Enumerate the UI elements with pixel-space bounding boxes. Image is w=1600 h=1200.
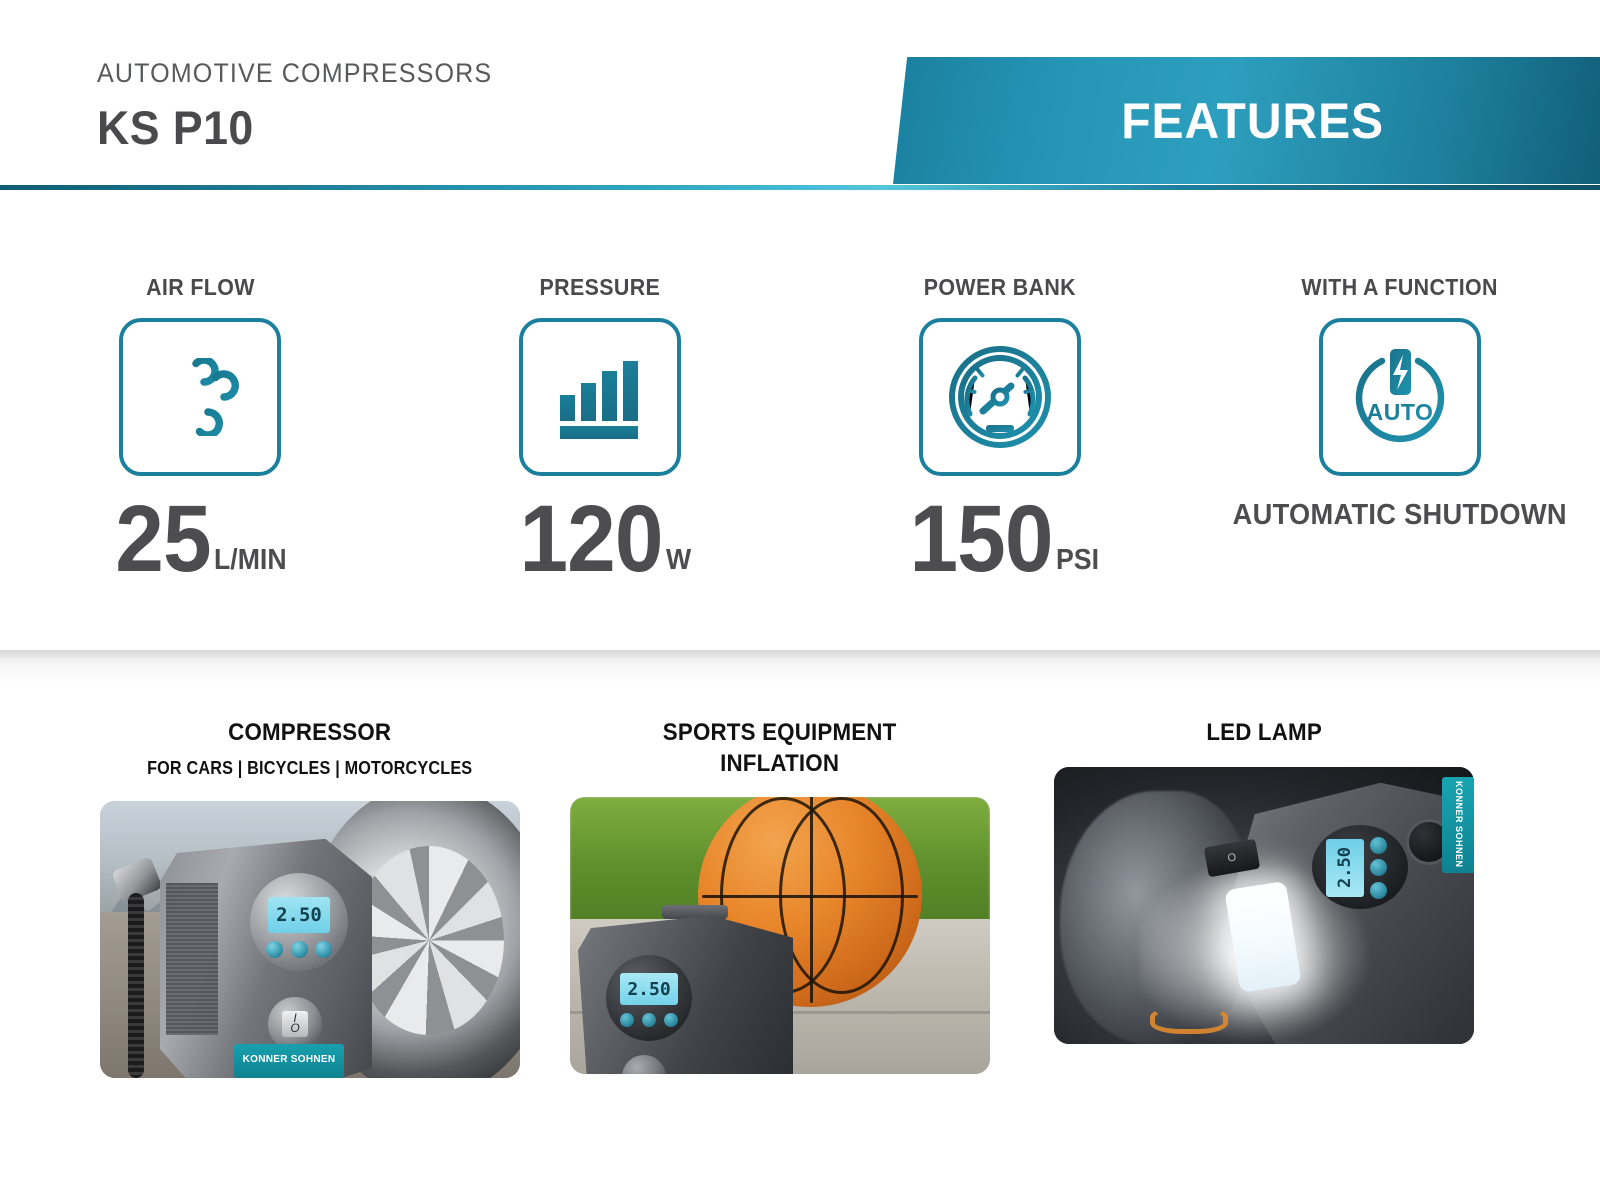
gallery-subtitle-compressor: FOR CARS | BICYCLES | MOTORCYCLES [147,758,472,779]
compressor-display-bezel: 2.50 [1312,825,1408,909]
spec-number-air-flow: 25 [115,498,210,582]
spec-value-air-flow: 25 L/MIN [107,498,293,582]
spec-number-power-bank: 150 [910,498,1053,582]
compressor-with-basketball-photo: 2.50 [570,797,990,1074]
lcd-buttons [620,1013,678,1027]
switch-off-label: O [290,1024,299,1034]
gallery-title-led-lamp: LED LAMP [1206,718,1322,749]
spec-value-power-bank: 150 PSI [897,498,1102,582]
spec-label-air-flow: AIR FLOW [146,275,255,300]
spec-caption-auto-shutdown: AUTOMATIC SHUTDOWN [1233,498,1567,533]
product-feature-sheet: AUTOMOTIVE COMPRESSORS KS P10 FEATURES A… [0,0,1600,1200]
orange-cable [1150,1006,1228,1034]
spec-label-power-bank: POWER BANK [924,275,1076,300]
specs-row: AIR FLOW 25 L/MIN [0,190,1600,650]
gallery-card-led-lamp: LED LAMP O 2.50 KONNER SOHNEN [1052,718,1476,1044]
power-switch: IO [268,997,322,1051]
spec-auto-shutdown: WITH A FUNCTION AUTO AUTOMATIC SHUTDOWN [1200,275,1600,534]
lcd-buttons [266,941,332,958]
spec-unit-air-flow: L/MIN [214,546,287,582]
compressor-on-car-wheel-photo: 2.50 IO KONNER SOHNEN [100,801,520,1078]
header-titles: AUTOMOTIVE COMPRESSORS KS P10 [97,58,522,155]
compressor-display-bezel: 2.50 [250,873,348,971]
gallery-title-compressor: COMPRESSOR [228,718,391,749]
spec-value-pressure: 120 W [507,498,693,582]
product-model-title: KS P10 [97,100,501,155]
bar-chart-icon [519,318,681,476]
features-banner-label: FEATURES [1121,92,1384,150]
spec-number-pressure: 120 [519,498,662,582]
section-divider [0,650,1600,684]
gallery-title-sports-equipment: SPORTS EQUIPMENT INFLATION [663,718,897,779]
gallery-row: COMPRESSOR FOR CARS | BICYCLES | MOTORCY… [0,700,1600,1200]
product-category-kicker: AUTOMOTIVE COMPRESSORS [97,58,492,89]
auto-power-icon: AUTO [1319,318,1481,476]
brand-badge: KONNER SOHNEN [1442,777,1474,873]
gallery-card-compressor: COMPRESSOR FOR CARS | BICYCLES | MOTORCY… [98,718,522,1078]
brand-badge: KONNER SOHNEN [234,1044,344,1078]
spec-pressure: PRESSURE 120 W [400,275,800,582]
lcd-display: 2.50 [620,973,678,1005]
spec-air-flow: AIR FLOW 25 L/MIN [0,275,400,582]
wind-icon [119,318,281,476]
svg-text:AUTO: AUTO [1367,399,1434,425]
compressor-led-lamp-photo: O 2.50 KONNER SOHNEN [1054,767,1474,1044]
spec-unit-pressure: W [666,546,691,582]
lcd-buttons [1370,837,1387,899]
lcd-display: 2.50 [268,897,330,933]
features-banner: FEATURES [893,57,1600,184]
page-header: AUTOMOTIVE COMPRESSORS KS P10 FEATURES [0,0,1600,190]
spec-power-bank: POWER BANK [800,275,1200,582]
lcd-display: 2.50 [1326,839,1364,897]
compressor-display-bezel: 2.50 [606,955,692,1041]
pressure-gauge-icon [919,318,1081,476]
spec-label-pressure: PRESSURE [540,275,661,300]
gallery-card-sports-equipment: SPORTS EQUIPMENT INFLATION 2.50 [568,718,992,1074]
spec-label-with-a-function: WITH A FUNCTION [1302,275,1498,300]
spec-unit-power-bank: PSI [1056,546,1099,582]
switch-off-label: O [1227,851,1238,864]
air-hose [112,857,158,1078]
compressor-grille [166,883,218,1035]
